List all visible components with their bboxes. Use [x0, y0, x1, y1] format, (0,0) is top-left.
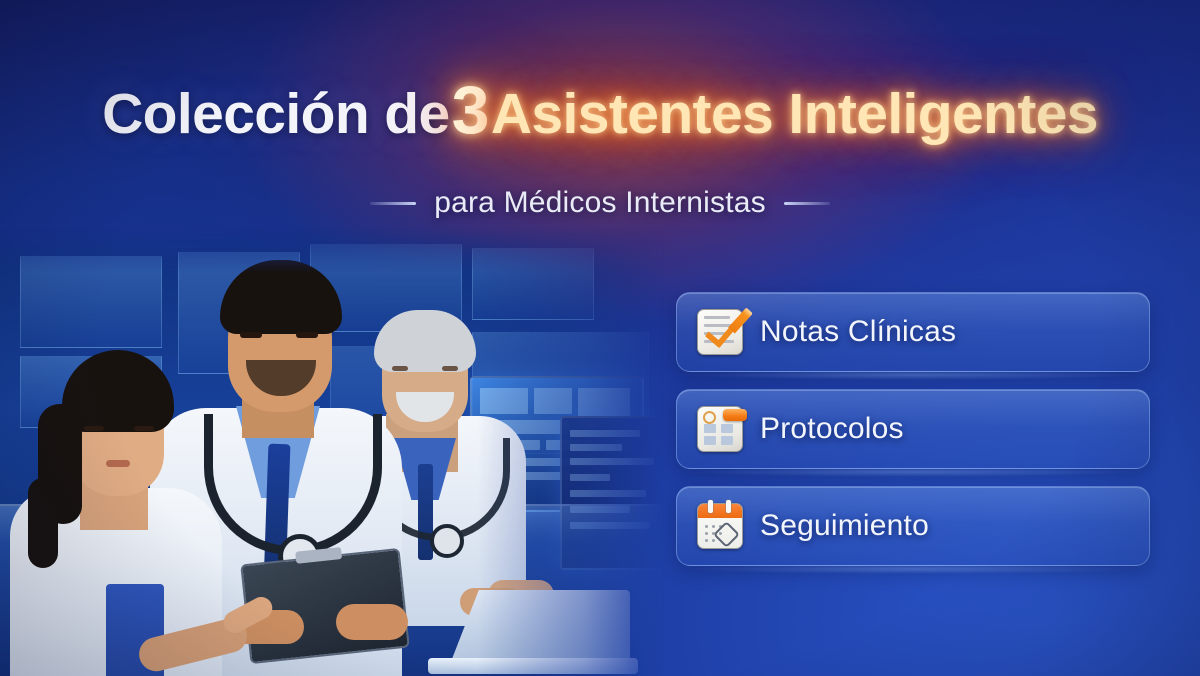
- feature-card-protocolos[interactable]: Protocolos: [676, 389, 1150, 469]
- page-subtitle: para Médicos Internistas: [434, 186, 766, 220]
- subtitle-dash-right-icon: [784, 202, 830, 205]
- card-index-grid-icon: [697, 406, 743, 452]
- headline-count: 3: [450, 72, 491, 148]
- subtitle-dash-left-icon: [370, 202, 416, 205]
- memo-check-icon: [697, 309, 743, 355]
- page-title: Colección de3Asistentes Inteligentes: [0, 76, 1200, 144]
- headline-emphasis: Asistentes Inteligentes: [491, 82, 1098, 146]
- doctors-photo: [0, 228, 664, 676]
- subtitle-block: para Médicos Internistas: [0, 186, 1200, 220]
- feature-card-label: Seguimiento: [760, 509, 929, 543]
- feature-card-seguimiento[interactable]: Seguimiento: [676, 486, 1150, 566]
- spiral-calendar-icon: [697, 503, 743, 549]
- feature-card-list: Notas Clínicas Protocolos: [676, 292, 1150, 566]
- feature-card-label: Protocolos: [760, 412, 904, 446]
- feature-card-notas-clinicas[interactable]: Notas Clínicas: [676, 292, 1150, 372]
- feature-card-label: Notas Clínicas: [760, 315, 956, 349]
- poster-canvas: Colección de3Asistentes Inteligentes par…: [0, 0, 1200, 676]
- headline-block: Colección de3Asistentes Inteligentes: [0, 76, 1200, 144]
- doctor-female: [10, 328, 220, 676]
- headline-lead: Colección de: [102, 82, 450, 146]
- laptop: [450, 590, 630, 664]
